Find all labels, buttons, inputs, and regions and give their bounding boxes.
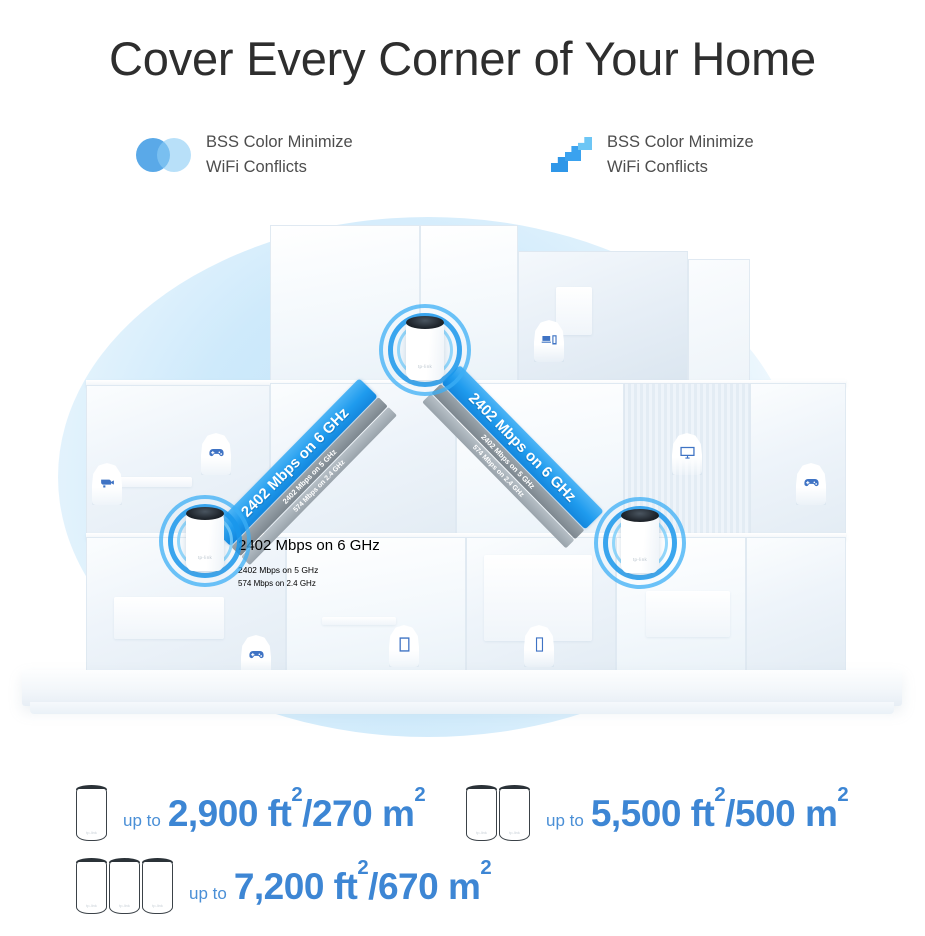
router-mini-icon: tp-link bbox=[109, 858, 140, 915]
coverage-row-3-units: tp-link tp-link tp-link up to 7,200 ft2/… bbox=[76, 858, 491, 915]
router-count-icons-1: tp-link bbox=[76, 785, 107, 842]
link-band-horizontal: 2402 Mbps on 6 GHz 2402 Mbps on 5 GHz 57… bbox=[238, 537, 608, 591]
house-cutaway bbox=[86, 225, 846, 677]
device-pin-tablet bbox=[389, 625, 419, 667]
router-mini-icon: tp-link bbox=[76, 785, 107, 842]
router-mini-icon: tp-link bbox=[76, 858, 107, 915]
phone-icon bbox=[529, 635, 549, 653]
router-mini-icon: tp-link bbox=[466, 785, 497, 842]
laptop-phone-icon bbox=[539, 330, 559, 348]
coverage-prefix-2: up to bbox=[546, 811, 584, 831]
router-brand-label: tp-link bbox=[625, 557, 655, 562]
feature-badge-bss-color-1: BSS Color Minimize WiFi Conflicts bbox=[136, 130, 353, 180]
device-pin-laptop-phone bbox=[534, 320, 564, 362]
coverage-text-3: up to 7,200 ft2/670 m2 bbox=[189, 866, 491, 908]
furniture-counter bbox=[646, 591, 730, 637]
tablet-icon bbox=[394, 635, 414, 653]
coverage-text-2: up to 5,500 ft2/500 m2 bbox=[546, 793, 848, 835]
router-mini-icon: tp-link bbox=[142, 858, 173, 915]
device-pin-gamepad-right bbox=[796, 463, 826, 505]
coverage-prefix-1: up to bbox=[123, 811, 161, 831]
router-count-icons-3: tp-link tp-link tp-link bbox=[76, 858, 173, 915]
device-pin-monitor bbox=[672, 433, 702, 475]
monitor-icon bbox=[677, 443, 697, 461]
device-pin-gamepad-left bbox=[201, 433, 231, 475]
room-upper-far-right bbox=[688, 259, 750, 383]
room-lower-right bbox=[746, 537, 846, 677]
feature-badge-label-2: BSS Color Minimize WiFi Conflicts bbox=[607, 130, 754, 180]
house-base-shadow bbox=[30, 702, 894, 714]
gamepad-icon bbox=[801, 473, 821, 491]
router-mini-icon: tp-link bbox=[499, 785, 530, 842]
page-title: Cover Every Corner of Your Home bbox=[0, 32, 925, 86]
link-label-6ghz-horizontal: 2402 Mbps on 6 GHz bbox=[238, 537, 608, 565]
page-root: Cover Every Corner of Your Home BSS Colo… bbox=[0, 0, 925, 936]
link-label-24ghz-horizontal: 574 Mbps on 2.4 GHz bbox=[238, 579, 608, 592]
router-left: tp-link bbox=[157, 493, 253, 589]
furniture-bed bbox=[114, 597, 224, 639]
coverage-text-1: up to 2,900 ft2/270 m2 bbox=[123, 793, 425, 835]
home-coverage-illustration: 2402 Mbps on 6 GHz 2402 Mbps on 5 GHz 57… bbox=[0, 205, 925, 750]
coverage-value-2: 5,500 ft2/500 m2 bbox=[591, 793, 848, 835]
furniture-table bbox=[322, 617, 396, 625]
room-main-right bbox=[750, 383, 846, 537]
coverage-summary: tp-link up to 2,900 ft2/270 m2 tp-link t… bbox=[0, 780, 925, 930]
house-base-slab bbox=[22, 670, 902, 706]
router-top: tp-link bbox=[377, 302, 473, 398]
camera-icon bbox=[97, 473, 117, 491]
coverage-value-3: 7,200 ft2/670 m2 bbox=[234, 866, 491, 908]
feature-badges: BSS Color Minimize WiFi Conflicts BSS Co… bbox=[0, 130, 925, 196]
overlapping-circles-icon bbox=[136, 138, 192, 172]
gamepad-icon bbox=[206, 443, 226, 461]
device-pin-camera bbox=[92, 463, 122, 505]
feature-badge-bss-color-2: BSS Color Minimize WiFi Conflicts bbox=[551, 130, 754, 180]
room-upper-right bbox=[518, 251, 688, 383]
router-count-icons-2: tp-link tp-link bbox=[466, 785, 530, 842]
coverage-prefix-3: up to bbox=[189, 884, 227, 904]
router-brand-label: tp-link bbox=[410, 364, 440, 369]
router-brand-label: tp-link bbox=[190, 555, 220, 560]
link-label-5ghz-horizontal: 2402 Mbps on 5 GHz bbox=[238, 565, 608, 579]
device-pin-phone bbox=[524, 625, 554, 667]
router-right: tp-link bbox=[592, 495, 688, 591]
coverage-value-1: 2,900 ft2/270 m2 bbox=[168, 793, 425, 835]
coverage-row-1-unit: tp-link up to 2,900 ft2/270 m2 bbox=[76, 785, 425, 842]
gamepad-icon bbox=[246, 645, 266, 663]
coverage-row-2-units: tp-link tp-link up to 5,500 ft2/500 m2 bbox=[466, 785, 848, 842]
ascending-steps-icon bbox=[551, 135, 593, 175]
feature-badge-label-1: BSS Color Minimize WiFi Conflicts bbox=[206, 130, 353, 180]
